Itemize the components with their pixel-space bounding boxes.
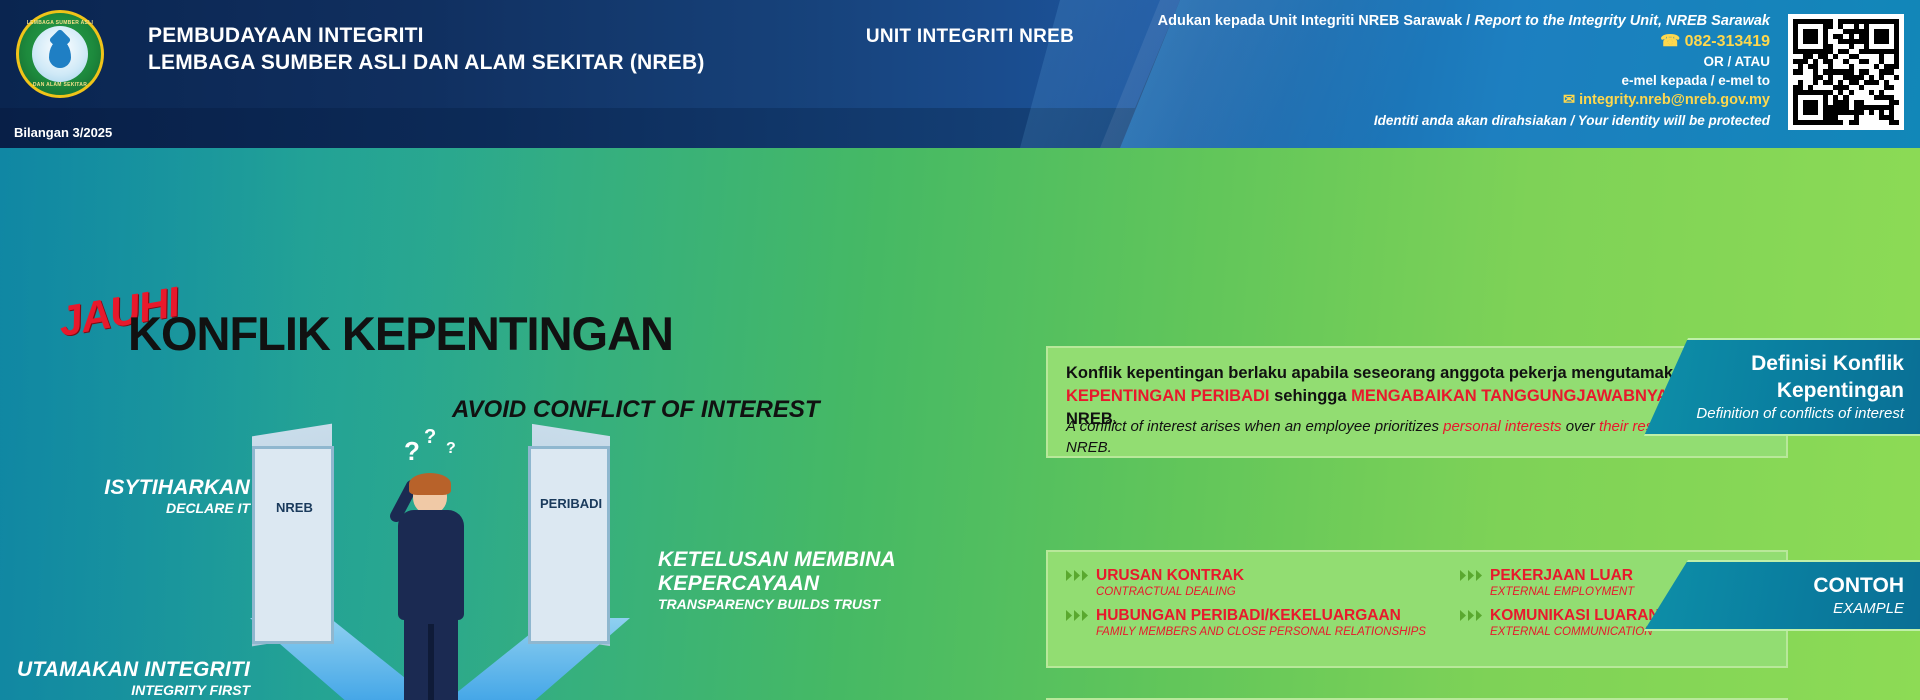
hero-label-integrity: UTAMAKAN INTEGRITI INTEGRITY FIRST (10, 658, 250, 698)
door-right-label: PERIBADI (540, 496, 602, 511)
issue-number: Bilangan 3/2025 (14, 125, 112, 140)
tab-definition-en: Definition of conflicts of interest (1696, 404, 1904, 424)
def-ms-part-2: sehingga (1270, 387, 1352, 405)
contact-or: OR / ATAU (1130, 52, 1770, 71)
question-mark-icon-1: ? (404, 436, 420, 467)
arrows-icon (1460, 610, 1484, 622)
contact-phone[interactable]: 082-313419 (1685, 33, 1770, 50)
tab-example-en: EXAMPLE (1696, 599, 1904, 619)
arrows-icon (1066, 570, 1090, 582)
logo-emblem (32, 26, 88, 82)
tab-example[interactable]: CONTOH EXAMPLE (1644, 560, 1920, 631)
contact-report-line: Adukan kepada Unit Integriti NREB Sarawa… (1130, 12, 1770, 31)
question-mark-icon-2: ? (424, 426, 436, 449)
hero-label-integrity-ms: UTAMAKAN INTEGRITI (10, 658, 250, 682)
qr-code[interactable] (1788, 14, 1904, 130)
def-en-part-1: personal interests (1443, 418, 1561, 435)
contact-email-row[interactable]: ✉ integrity.nreb@nreb.gov.my (1130, 90, 1770, 111)
def-ms-part-1: KEPENTINGAN PERIBADI (1066, 387, 1270, 405)
hero-label-transparency-en: TRANSPARENCY BUILDS TRUST (658, 596, 918, 612)
tab-definition-ms: Definisi Konflik Kepentingan (1696, 350, 1904, 404)
def-ms-part-3: MENGABAIKAN TANGGUNGJAWABNYA (1351, 387, 1668, 405)
header-title: PEMBUDAYAAN INTEGRITI LEMBAGA SUMBER ASL… (148, 22, 705, 76)
contact-phone-row[interactable]: ☎ 082-313419 (1130, 31, 1770, 52)
question-mark-icon-3: ? (446, 440, 456, 458)
phone-icon: ☎ (1660, 33, 1680, 50)
example-item: URUSAN KONTRAK CONTRACTUAL DEALING (1066, 566, 1446, 600)
envelope-icon: ✉ (1563, 92, 1575, 108)
header-contact-block: Adukan kepada Unit Integriti NREB Sarawa… (1130, 12, 1770, 130)
arrows-icon (1066, 610, 1090, 622)
example-en: FAMILY MEMBERS AND CLOSE PERSONAL RELATI… (1096, 625, 1446, 640)
example-item: HUBUNGAN PERIBADI/KEKELUARGAAN FAMILY ME… (1066, 606, 1446, 640)
qr-code-grid (1793, 19, 1899, 125)
figure-legs (404, 614, 458, 700)
logo-text-bottom: DAN ALAM SEKITAR (19, 82, 101, 88)
example-ms: HUBUNGAN PERIBADI/KEKELUARGAAN (1096, 606, 1446, 625)
nreb-logo: LEMBAGA SUMBER ASLI DAN ALAM SEKITAR (16, 10, 104, 98)
door-left-label: NREB (276, 500, 313, 515)
figure-body (398, 510, 464, 620)
water-drop-icon (49, 40, 71, 68)
examples-column-left: URUSAN KONTRAK CONTRACTUAL DEALING HUBUN… (1066, 566, 1446, 646)
figure-hair (409, 473, 451, 495)
def-en-part-0: A conflict of interest arises when an em… (1066, 418, 1443, 435)
header-title-line1: PEMBUDAYAAN INTEGRITI (148, 22, 705, 49)
example-ms: URUSAN KONTRAK (1096, 566, 1446, 585)
example-en: CONTRACTUAL DEALING (1096, 585, 1446, 600)
hero-title: KONFLIK KEPENTINGAN (128, 306, 673, 361)
def-ms-part-0: Konflik kepentingan berlaku apabila sese… (1066, 364, 1692, 382)
door-right (528, 446, 610, 644)
logo-text-top: LEMBAGA SUMBER ASLI (19, 20, 101, 26)
hero-label-declare-en: DECLARE IT (60, 500, 250, 516)
hero-label-declare: ISYTIHARKAN DECLARE IT (60, 476, 250, 516)
hero-label-transparency-ms: KETELUSAN MEMBINA KEPERCAYAAN (658, 548, 918, 596)
contact-report-en: Report to the Integrity Unit, NREB Saraw… (1474, 13, 1770, 29)
poster-body: JAUHI KONFLIK KEPENTINGAN AVOID CONFLICT… (0, 148, 1920, 700)
contact-email[interactable]: integrity.nreb@nreb.gov.my (1579, 92, 1770, 108)
hero-label-declare-ms: ISYTIHARKAN (60, 476, 250, 500)
arrows-icon (1460, 570, 1484, 582)
hero-label-transparency: KETELUSAN MEMBINA KEPERCAYAAN TRANSPAREN… (658, 548, 918, 612)
contact-email-label: e-mel kepada / e-mel to (1130, 71, 1770, 90)
header-unit-title: UNIT INTEGRITI NREB (760, 26, 1180, 48)
def-en-part-2: over (1562, 418, 1600, 435)
hero-subtitle: AVOID CONFLICT OF INTEREST (452, 396, 820, 424)
page-header: LEMBAGA SUMBER ASLI DAN ALAM SEKITAR PEM… (0, 0, 1920, 148)
contact-report-ms: Adukan kepada Unit Integriti NREB Sarawa… (1158, 13, 1471, 29)
tab-example-ms: CONTOH (1696, 572, 1904, 599)
contact-privacy-note: Identiti anda akan dirahsiakan / Your id… (1130, 111, 1770, 130)
door-left (252, 446, 334, 644)
header-title-line2: LEMBAGA SUMBER ASLI DAN ALAM SEKITAR (NR… (148, 49, 705, 76)
hero-label-integrity-en: INTEGRITY FIRST (10, 682, 250, 698)
tab-definition[interactable]: Definisi Konflik Kepentingan Definition … (1644, 338, 1920, 436)
